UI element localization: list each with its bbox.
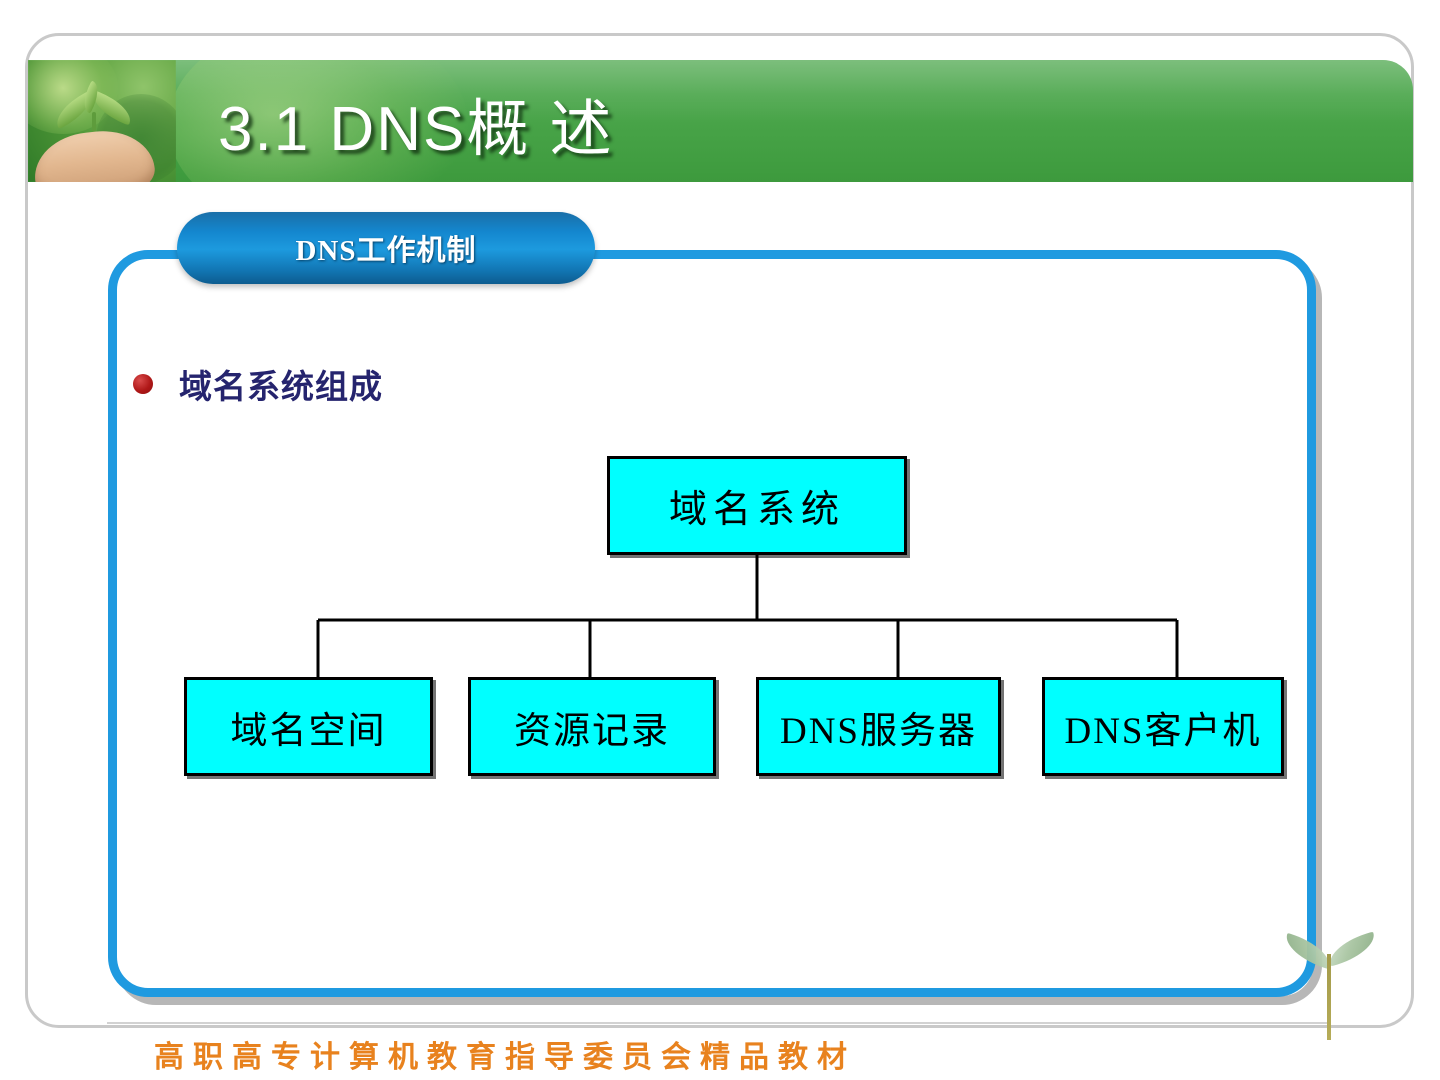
diagram-node-child-3[interactable]: DNS客户机	[1042, 677, 1284, 776]
section-tab[interactable]: DNS工作机制	[177, 212, 595, 284]
bullet-dot-icon	[133, 374, 153, 394]
bullet-item: 域名系统组成	[133, 360, 383, 408]
diagram-node-label: 域名系统	[669, 478, 845, 533]
bullet-label: 域名系统组成	[179, 360, 383, 408]
page-title: 3.1 DNS概 述	[218, 78, 614, 168]
seedling-in-hand-photo	[28, 60, 176, 182]
sprout-leaf-right	[1325, 932, 1379, 967]
diagram-node-label: DNS服务器	[780, 700, 977, 754]
diagram-node-child-1[interactable]: 资源记录	[468, 677, 716, 776]
diagram-node-label: DNS客户机	[1064, 700, 1261, 754]
section-tab-label: DNS工作机制	[295, 227, 476, 269]
diagram-node-label: 域名空间	[231, 700, 387, 754]
diagram-node-label: 资源记录	[514, 700, 670, 754]
footer-divider	[107, 1022, 1327, 1024]
footer-text: 高职高专计算机教育指导委员会精品教材	[0, 1032, 1010, 1076]
sprout-stem	[1327, 954, 1331, 1040]
diagram-node-root[interactable]: 域名系统	[607, 456, 907, 555]
diagram-node-child-2[interactable]: DNS服务器	[756, 677, 1001, 776]
diagram-node-child-0[interactable]: 域名空间	[184, 677, 433, 776]
